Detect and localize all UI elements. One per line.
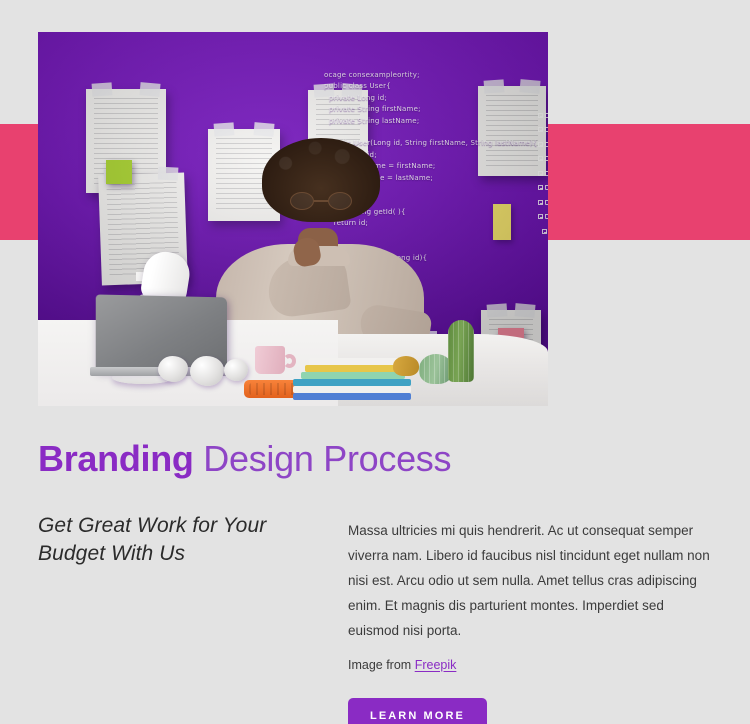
page-title-strong: Branding <box>38 438 194 479</box>
section-subheading: Get Great Work for Your Budget With Us <box>38 512 328 568</box>
gold-ornament <box>393 356 419 376</box>
left-column: Get Great Work for Your Budget With Us <box>38 512 328 568</box>
image-credit: Image from Freepik <box>348 658 712 672</box>
crumpled-paper <box>190 356 224 386</box>
body-paragraph: Massa ultricies mi quis hendrerit. Ac ut… <box>348 518 712 643</box>
page-title-light: Design Process <box>194 438 452 479</box>
hero-photo-purple-wall: ocage consexampleortity;public class Use… <box>38 32 548 406</box>
crumpled-paper <box>224 359 248 381</box>
crumpled-paper <box>158 356 188 382</box>
right-column: Massa ultricies mi quis hendrerit. Ac ut… <box>348 518 712 724</box>
image-credit-prefix: Image from <box>348 658 415 672</box>
page-title: Branding Design Process <box>38 438 451 480</box>
learn-more-button[interactable]: LEARN MORE <box>348 698 487 724</box>
coffee-mug <box>255 346 285 374</box>
tall-cactus <box>448 320 474 382</box>
glasses-icon <box>290 192 352 210</box>
hero-image: ocage consexampleortity;public class Use… <box>38 32 548 406</box>
freepik-link[interactable]: Freepik <box>415 658 457 672</box>
